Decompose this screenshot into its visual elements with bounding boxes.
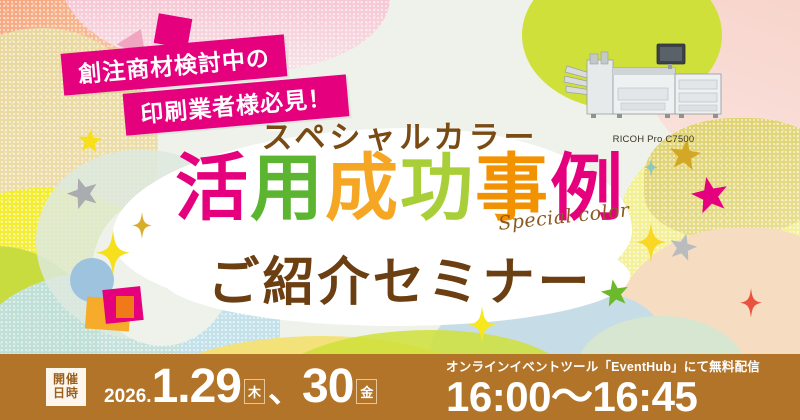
event-time: 16:00～16:45 [446, 376, 760, 418]
event-date-block: 2026. 1.29 木 、 30 金 [104, 363, 380, 412]
footer-bar: 開催 日時 2026. 1.29 木 、 30 金 オンラインイベントツール「E… [0, 354, 800, 420]
seminar-title: ご紹介セミナー [0, 240, 800, 315]
event-time-block: オンラインイベントツール「EventHub」にて無料配信 16:00～16:45 [446, 356, 760, 418]
event-year: 2026. [104, 386, 152, 408]
event-day-of-week-2: 金 [356, 379, 377, 404]
event-date-1: 1.29 [152, 364, 241, 410]
main-title: 活用成功事例 [0, 152, 800, 225]
main-title-char-3: 功 [400, 152, 475, 225]
seminar-banner: 創注商材検討中の 印刷業者様必見！ [0, 0, 800, 420]
badge-line-1: 開催 [53, 372, 79, 386]
date-separator: 、 [268, 363, 302, 412]
event-datetime-badge: 開催 日時 [46, 368, 86, 406]
main-title-char-0: 活 [175, 152, 250, 225]
badge-line-2: 日時 [53, 386, 79, 400]
event-date-2: 30 [302, 364, 353, 410]
main-title-char-1: 用 [250, 152, 325, 225]
main-title-char-2: 成 [325, 152, 400, 225]
event-day-of-week-1: 木 [244, 379, 265, 404]
